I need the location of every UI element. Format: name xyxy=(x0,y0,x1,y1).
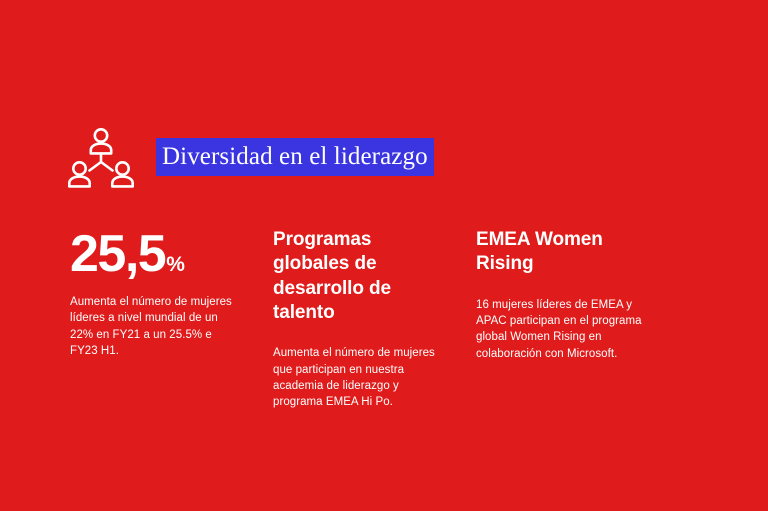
column-heading: EMEA Women Rising xyxy=(476,228,644,277)
team-org-chart-icon xyxy=(68,126,134,188)
stat-block: 25,5 % xyxy=(70,228,240,280)
slide-header: Diversidad en el liderazgo xyxy=(68,126,434,188)
page-title: Diversidad en el liderazgo xyxy=(156,138,434,176)
stat-unit: % xyxy=(166,254,185,275)
column-body-text: Aumenta el número de mujeres que partici… xyxy=(273,345,439,410)
slide-canvas: Diversidad en el liderazgo 25,5 % Aument… xyxy=(0,0,768,511)
column-talent-programs: Programas globales de desarrollo de tale… xyxy=(273,228,443,411)
column-diversity-stat: 25,5 % Aumenta el número de mujeres líde… xyxy=(70,228,240,359)
column-body-text: Aumenta el número de mujeres líderes a n… xyxy=(70,294,236,359)
page-title-text: Diversidad en el liderazgo xyxy=(156,138,434,176)
team-org-chart-icon-svg xyxy=(68,126,134,188)
column-body-text: 16 mujeres líderes de EMEA y APAC partic… xyxy=(476,297,642,362)
column-heading: Programas globales de desarrollo de tale… xyxy=(273,228,441,325)
stat-value: 25,5 xyxy=(70,228,165,280)
content-columns: 25,5 % Aumenta el número de mujeres líde… xyxy=(70,228,700,411)
column-emea-women-rising: EMEA Women Rising 16 mujeres líderes de … xyxy=(476,228,646,362)
